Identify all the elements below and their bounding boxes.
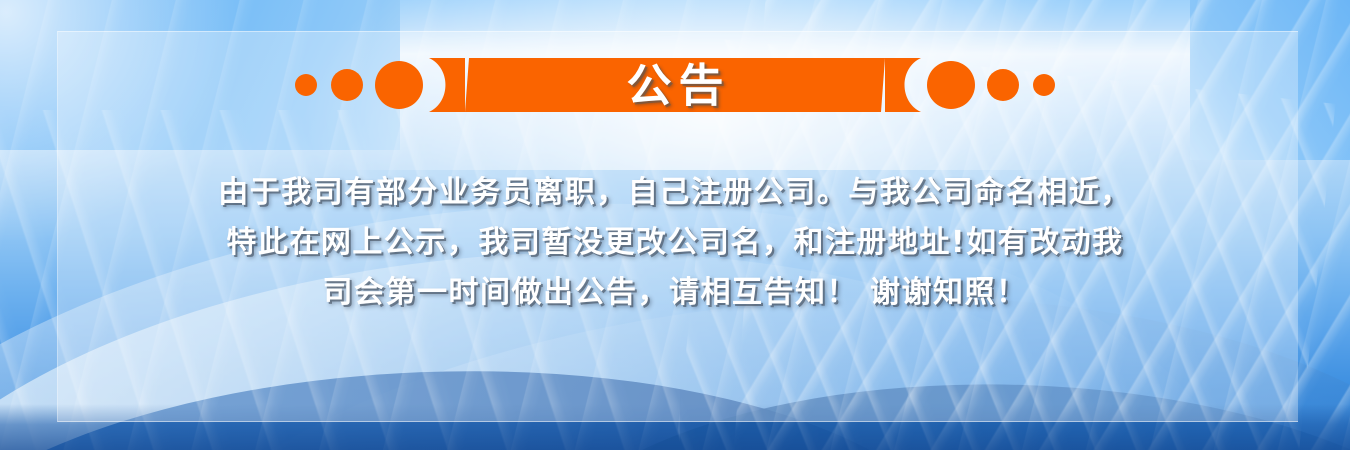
decorative-dot-large-left [375,61,423,109]
decorative-dot-small-right [1033,74,1055,96]
notice-line-1: 由于我司有部分业务员离职，自己注册公司。与我公司命名相近， [0,168,1350,218]
title-label: 公告 [619,63,730,108]
decorative-dot-small-left [295,74,317,96]
notice-text-block: 由于我司有部分业务员离职，自己注册公司。与我公司命名相近， 特此在网上公示，我司… [0,168,1350,318]
decorative-dot-medium-right [987,69,1019,101]
announcement-banner: 公告 由于我司有部分业务员离职，自己注册公司。与我公司命名相近， 特此在网上公示… [0,0,1350,450]
notice-line-2: 特此在网上公示，我司暂没更改公司名，和注册地址!如有改动我 [0,218,1350,268]
decorative-dot-large-right [927,61,975,109]
crescent-left-icon [429,56,465,114]
title-plate: 公告 [0,52,1350,118]
notice-line-3: 司会第一时间做出公告，请相互告知！ 谢谢知照！ [0,268,1350,318]
crescent-right-icon [885,56,921,114]
decorative-dot-medium-left [331,69,363,101]
title-bar: 公告 [465,56,885,114]
